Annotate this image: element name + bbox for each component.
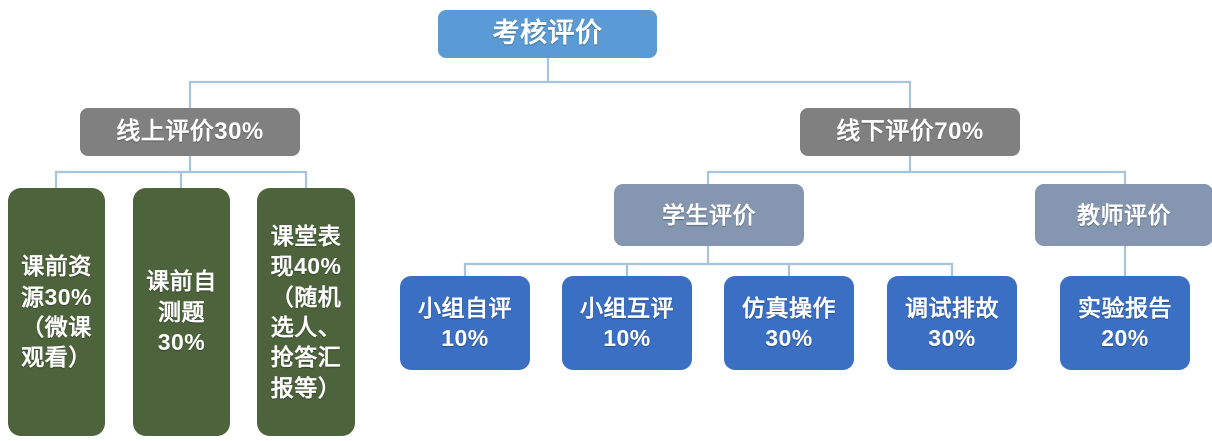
node-lab-report[interactable]: 实验报告 20% (1060, 276, 1190, 370)
node-teacher-evaluation-label: 教师评价 (1041, 200, 1207, 230)
node-offline-evaluation[interactable]: 线下评价70% (800, 108, 1020, 156)
node-pre-class-resources-label: 课前资 源30% （微课 观看） (14, 251, 99, 372)
node-classroom-performance[interactable]: 课堂表 现40% （随机 选人、 抢答汇 报等） (257, 188, 355, 436)
node-debugging-troubleshooting-label: 调试排故 30% (893, 293, 1011, 354)
node-root-label: 考核评价 (444, 16, 651, 52)
node-group-peer-assessment-label: 小组互评 10% (568, 293, 686, 354)
node-root-assessment[interactable]: 考核评价 (438, 10, 657, 58)
node-pre-class-resources[interactable]: 课前资 源30% （微课 观看） (8, 188, 105, 436)
node-simulation-operation-label: 仿真操作 30% (730, 293, 848, 354)
node-teacher-evaluation[interactable]: 教师评价 (1035, 184, 1212, 246)
node-student-evaluation[interactable]: 学生评价 (614, 184, 804, 246)
node-student-evaluation-label: 学生评价 (620, 200, 798, 230)
node-group-self-assessment-label: 小组自评 10% (406, 293, 524, 354)
node-pre-class-quiz[interactable]: 课前自 测题 30% (133, 188, 230, 436)
org-chart-diagram: 考核评价 线上评价30% 线下评价70% 课前资 源30% （微课 观看） 课前… (0, 0, 1212, 441)
node-group-peer-assessment[interactable]: 小组互评 10% (562, 276, 692, 370)
node-offline-label: 线下评价70% (806, 116, 1014, 148)
node-online-evaluation[interactable]: 线上评价30% (80, 108, 300, 156)
node-pre-class-quiz-label: 课前自 测题 30% (139, 266, 224, 357)
node-lab-report-label: 实验报告 20% (1066, 293, 1184, 354)
node-debugging-troubleshooting[interactable]: 调试排故 30% (887, 276, 1017, 370)
node-online-label: 线上评价30% (86, 116, 294, 148)
node-group-self-assessment[interactable]: 小组自评 10% (400, 276, 530, 370)
node-classroom-performance-label: 课堂表 现40% （随机 选人、 抢答汇 报等） (263, 221, 349, 403)
node-simulation-operation[interactable]: 仿真操作 30% (724, 276, 854, 370)
